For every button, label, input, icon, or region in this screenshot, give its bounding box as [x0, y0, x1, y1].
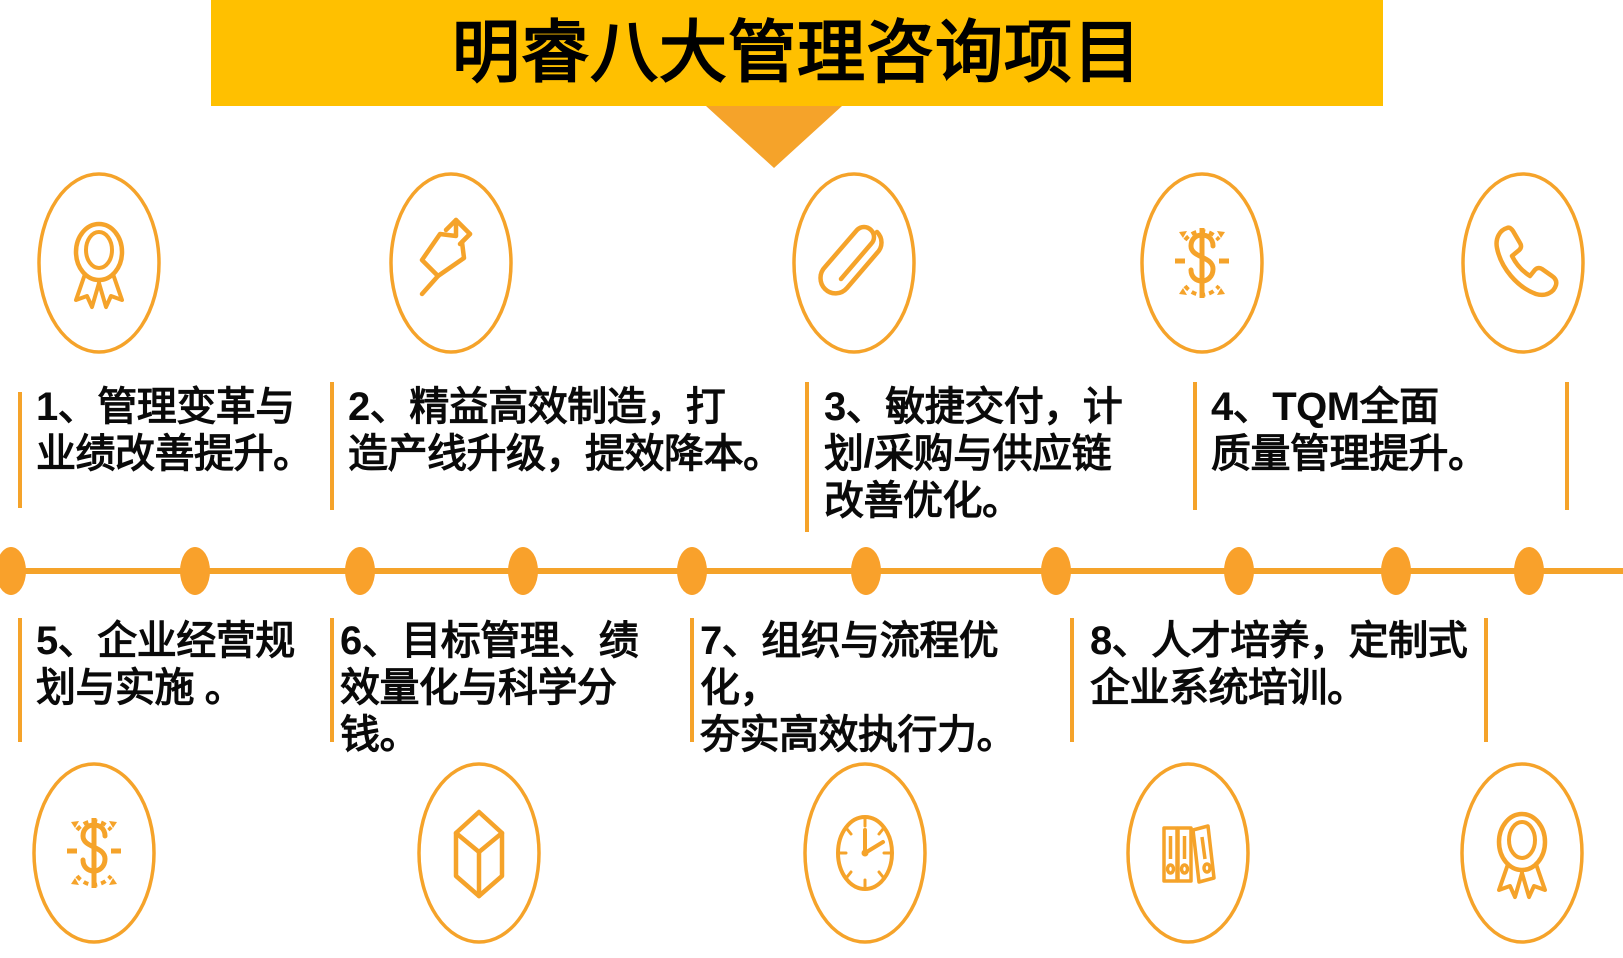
infographic-slide: 明睿八大管理咨询项目	[0, 0, 1623, 958]
title-banner: 明睿八大管理咨询项目	[211, 0, 1383, 106]
item-label-7: 7、组织与流程优化， 夯实高效执行力。	[700, 618, 1065, 760]
item-label-3: 3、敏捷交付，计 划/采购与供应链 改善优化。	[824, 384, 1189, 526]
separator-bar-3	[805, 382, 809, 532]
icon-award-ribbon-2	[1459, 760, 1585, 946]
separator-bar-6	[18, 618, 22, 742]
icon-award-ribbon-1	[36, 170, 162, 356]
timeline-axis	[0, 568, 1623, 574]
separator-bar-7	[330, 618, 334, 742]
timeline-dot	[345, 547, 375, 595]
icon-phone-handset	[1460, 170, 1586, 356]
separator-bar-2	[330, 382, 334, 510]
timeline-dot	[508, 547, 538, 595]
separator-bar-8	[690, 618, 694, 742]
timeline-dot	[1514, 547, 1544, 595]
separator-bar-1	[18, 392, 22, 508]
icon-dollar-exchange-1	[1139, 170, 1265, 356]
timeline-dot	[677, 547, 707, 595]
icon-cube-box	[416, 760, 542, 946]
icon-clock	[802, 760, 928, 946]
separator-bar-5	[1565, 382, 1569, 510]
banner-arrow-icon	[706, 106, 842, 168]
timeline-dot	[1224, 547, 1254, 595]
timeline-dot	[180, 547, 210, 595]
item-label-6: 6、目标管理、绩 效量化与科学分钱。	[340, 618, 685, 760]
timeline-dot	[0, 547, 26, 595]
item-label-5: 5、企业经营规 划与实施 。	[36, 618, 326, 712]
icon-dollar-exchange-2	[31, 760, 157, 946]
item-label-1: 1、管理变革与 业绩改善提升。	[36, 384, 326, 478]
timeline-dot	[1381, 547, 1411, 595]
icon-push-pin	[388, 170, 514, 356]
timeline-dot	[1041, 547, 1071, 595]
item-label-8: 8、人才培养，定制式 企业系统培训。	[1090, 618, 1490, 712]
page-title: 明睿八大管理咨询项目	[452, 19, 1142, 87]
item-label-2: 2、精益高效制造，打 造产线升级，提效降本。	[348, 384, 798, 478]
item-label-4: 4、TQM全面 质量管理提升。	[1211, 384, 1561, 478]
icon-paperclip	[791, 170, 917, 356]
timeline-dot	[851, 547, 881, 595]
separator-bar-9	[1070, 618, 1074, 742]
icon-binders-books	[1125, 760, 1251, 946]
separator-bar-4	[1193, 382, 1197, 510]
